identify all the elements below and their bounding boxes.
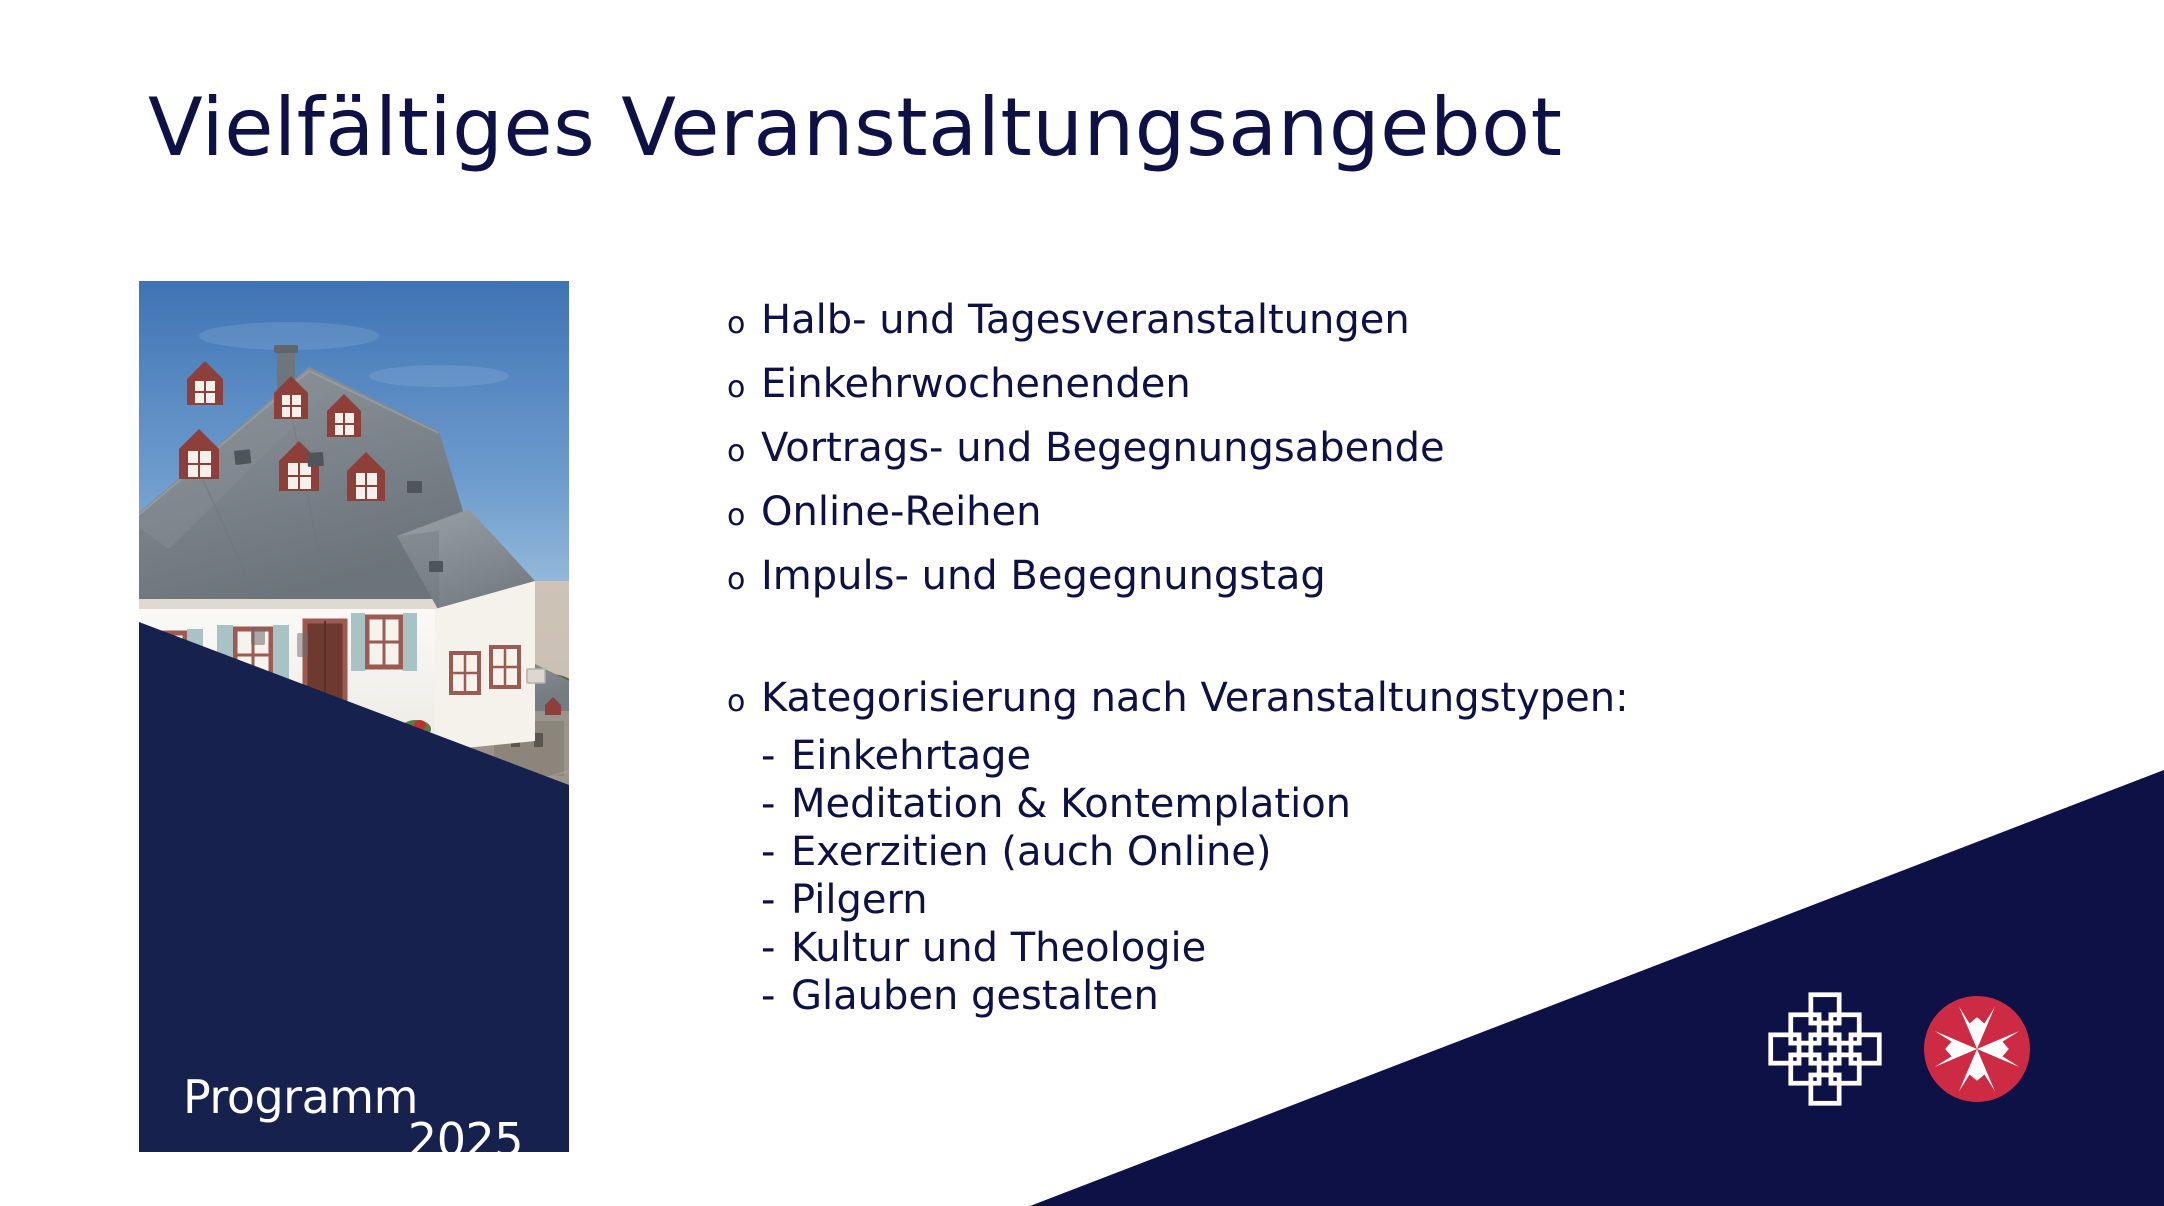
list-item: o Halb- und Tagesveranstaltungen (727, 290, 1907, 354)
dash-marker-icon: - (761, 780, 791, 828)
list-item-label: Vortrags- und Begegnungsabende (761, 418, 1445, 478)
bullet-marker-icon: o (727, 550, 761, 610)
sub-list-item-label: Exerzitien (auch Online) (791, 828, 1272, 876)
booklet-navy-overlay (139, 281, 569, 1152)
corner-logo-group (1766, 990, 2030, 1108)
bullet-marker-icon: o (727, 422, 761, 482)
dash-marker-icon: - (761, 732, 791, 780)
bullet-marker-icon: o (727, 294, 761, 354)
list-item-label: Kategorisierung nach Veranstaltungstypen… (761, 668, 1629, 728)
sub-list-item-label: Glauben gestalten (791, 972, 1159, 1020)
list-item: o Impuls- und Begegnungstag (727, 546, 1907, 610)
bullet-marker-icon: o (727, 672, 761, 732)
category-sub-list: - Einkehrtage - Meditation & Kontemplati… (761, 732, 1907, 1020)
bullet-content: o Halb- und Tagesveranstaltungen o Einke… (727, 290, 1907, 1020)
sub-list-item: - Meditation & Kontemplation (761, 780, 1907, 828)
sub-list-item: - Exerzitien (auch Online) (761, 828, 1907, 876)
sub-list-item: - Pilgern (761, 876, 1907, 924)
dash-marker-icon: - (761, 876, 791, 924)
slide-canvas: Vielfältiges Veranstaltungsangebot (0, 0, 2164, 1206)
sub-list-item-label: Einkehrtage (791, 732, 1031, 780)
sub-list-item-label: Pilgern (791, 876, 928, 924)
booklet-title: Programm (183, 1074, 418, 1120)
bullet-marker-icon: o (727, 358, 761, 418)
sub-list-item-label: Kultur und Theologie (791, 924, 1206, 972)
page-title: Vielfältiges Veranstaltungsangebot (148, 88, 1562, 168)
programme-booklet-cover: Programm 2025 Geistliches Zentrum Nieder… (139, 281, 569, 1152)
sub-list-item: - Glauben gestalten (761, 972, 1907, 1020)
booklet-year: 2025 (183, 1117, 523, 1152)
list-item: o Vortrags- und Begegnungsabende (727, 418, 1907, 482)
list-spacer (727, 610, 1907, 668)
dash-marker-icon: - (761, 828, 791, 876)
list-item-label: Online-Reihen (761, 482, 1042, 542)
sub-list-item: - Kultur und Theologie (761, 924, 1907, 972)
dash-marker-icon: - (761, 924, 791, 972)
dash-marker-icon: - (761, 972, 791, 1020)
list-item: o Einkehrwochenenden (727, 354, 1907, 418)
maltese-cross-logo (1924, 996, 2030, 1102)
list-item-label: Impuls- und Begegnungstag (761, 546, 1326, 606)
list-item-label: Einkehrwochenenden (761, 354, 1191, 414)
list-item: o Online-Reihen (727, 482, 1907, 546)
sub-list-item: - Einkehrtage (761, 732, 1907, 780)
list-item-categories-header: o Kategorisierung nach Veranstaltungstyp… (727, 668, 1907, 732)
johanniter-square-cross-logo (1766, 990, 1884, 1108)
bullet-marker-icon: o (727, 486, 761, 546)
list-item-label: Halb- und Tagesveranstaltungen (761, 290, 1410, 350)
sub-list-item-label: Meditation & Kontemplation (791, 780, 1351, 828)
